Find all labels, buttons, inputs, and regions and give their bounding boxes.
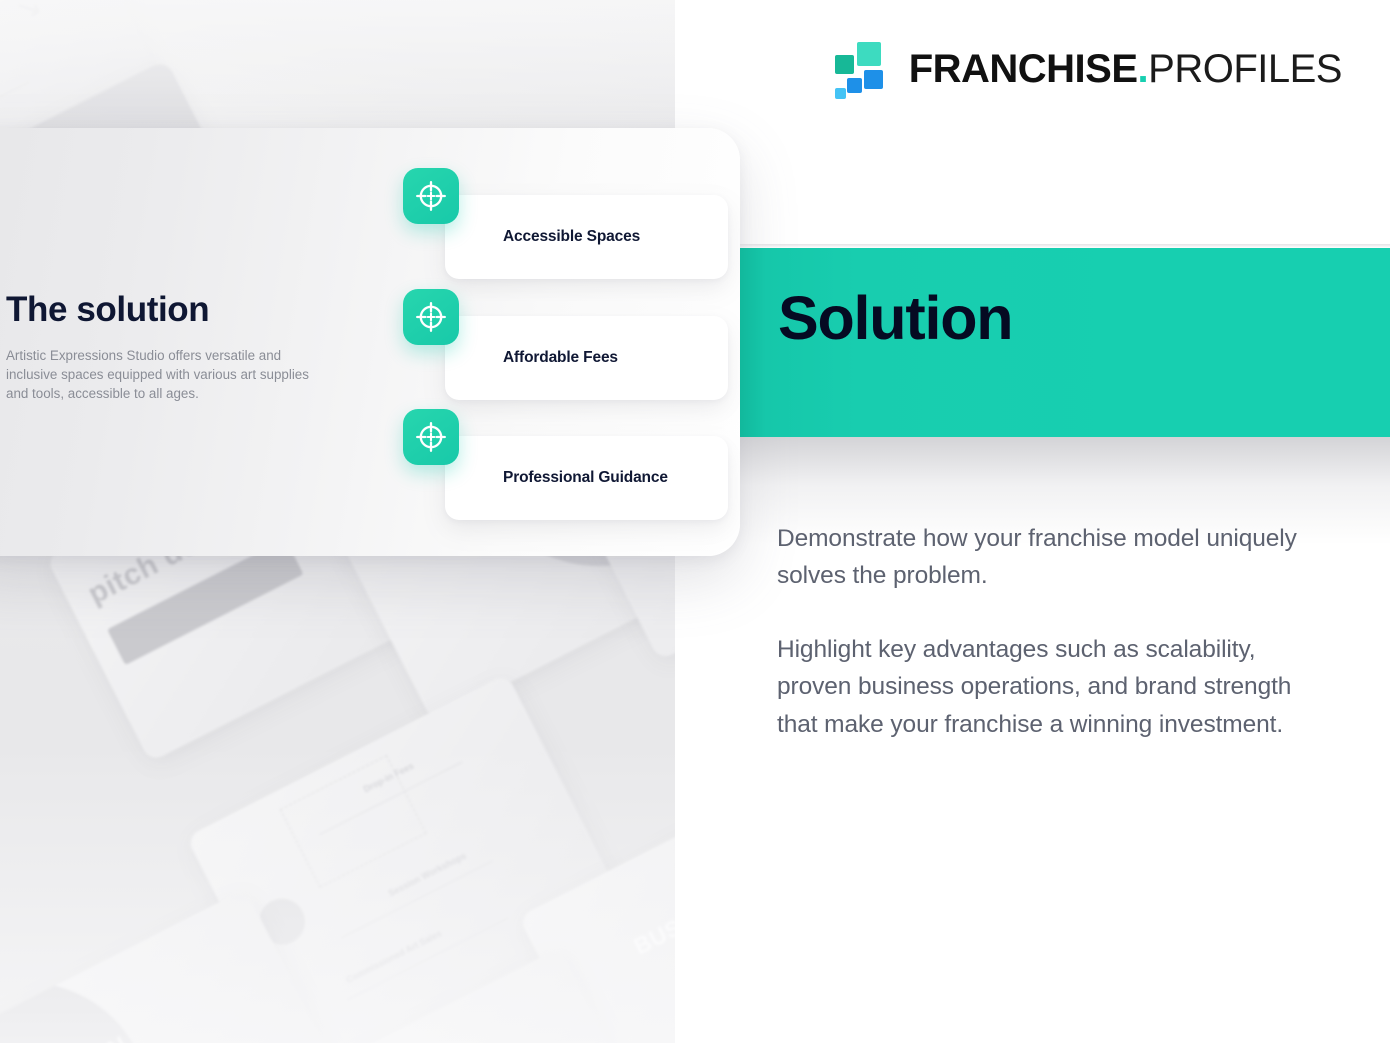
feature-label: Affordable Fees <box>503 349 618 367</box>
crosshair-target-icon <box>403 289 459 345</box>
feature-card[interactable]: Accessible Spaces <box>445 195 728 279</box>
slide-canvas: MARKET Serviceable Obtainable Market (SO… <box>0 0 1390 1043</box>
brand-wordmark: FRANCHISE.PROFILES <box>909 47 1342 92</box>
description-block: Demonstrate how your franchise model uni… <box>777 520 1322 743</box>
description-paragraph-1: Demonstrate how your franchise model uni… <box>777 520 1322 595</box>
feature-item-accessible-spaces[interactable]: Accessible Spaces <box>403 195 688 279</box>
brand-logo: FRANCHISE.PROFILES <box>833 40 1342 98</box>
brand-name-light: PROFILES <box>1148 47 1342 91</box>
backdrop-fade-bottom <box>0 743 675 1043</box>
page-title: Solution <box>778 288 1012 349</box>
solution-slide-body: Artistic Expressions Studio offers versa… <box>6 346 324 403</box>
feature-item-affordable-fees[interactable]: Affordable Fees <box>403 316 688 400</box>
crosshair-target-icon <box>403 168 459 224</box>
feature-card[interactable]: Professional Guidance <box>445 436 728 520</box>
solution-slide-card: The solution Artistic Expressions Studio… <box>0 128 740 556</box>
title-band: Solution <box>740 248 1390 437</box>
feature-card[interactable]: Affordable Fees <box>445 316 728 400</box>
brand-dot: . <box>1138 47 1149 91</box>
crosshair-target-icon <box>403 409 459 465</box>
feature-label: Professional Guidance <box>503 469 668 487</box>
feature-label: Accessible Spaces <box>503 228 640 246</box>
feature-item-professional-guidance[interactable]: Professional Guidance <box>403 436 688 520</box>
brand-mark-icon <box>833 40 891 98</box>
description-paragraph-2: Highlight key advantages such as scalabi… <box>777 631 1322 743</box>
brand-name-bold: FRANCHISE <box>909 47 1138 91</box>
solution-slide-heading: The solution <box>6 290 209 330</box>
